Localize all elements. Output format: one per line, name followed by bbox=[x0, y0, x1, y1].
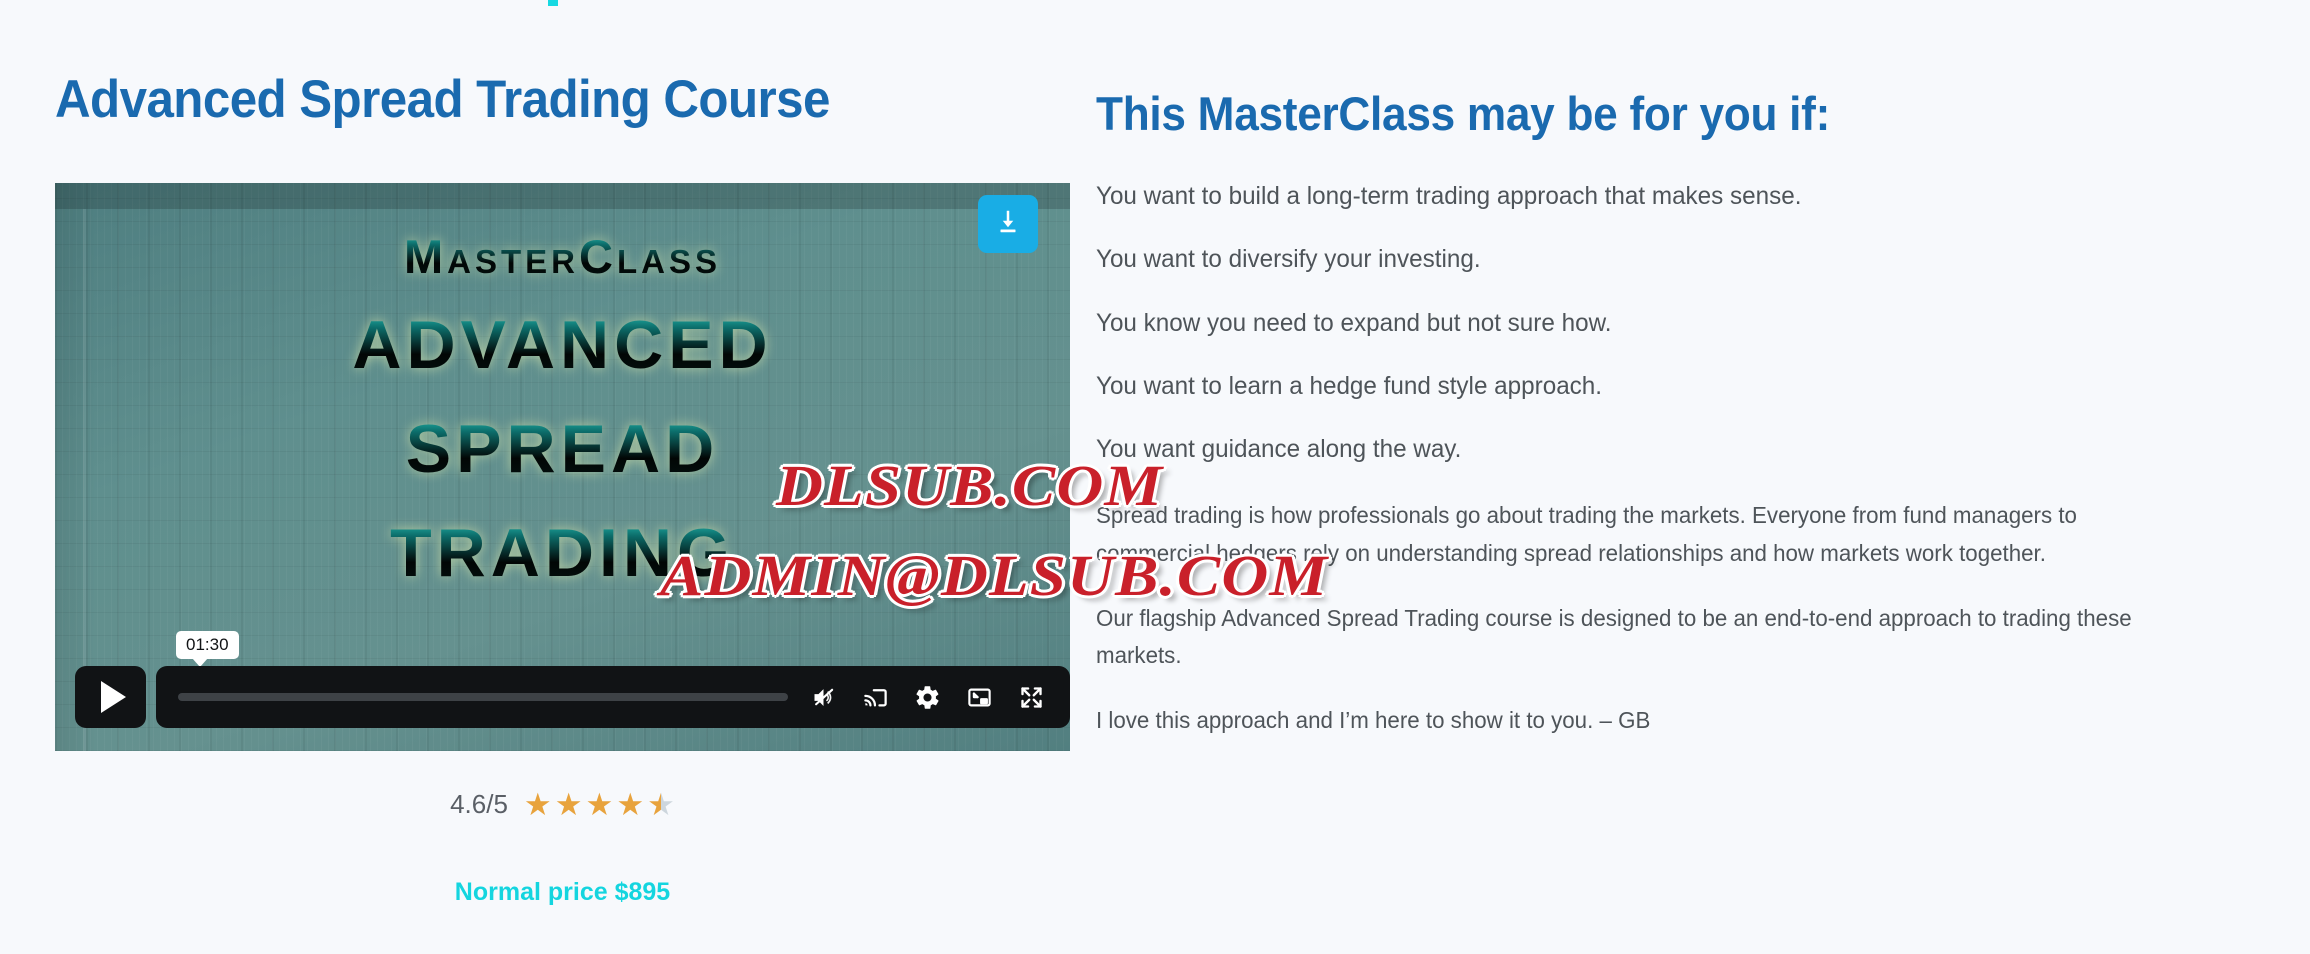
benefit-line: You want to learn a hedge fund style app… bbox=[1096, 371, 2250, 402]
download-button[interactable] bbox=[978, 195, 1038, 253]
fullscreen-icon[interactable] bbox=[1014, 680, 1048, 714]
thumbnail-line-1: MasterClass bbox=[404, 229, 721, 284]
benefit-line: You want to diversify your investing. bbox=[1096, 244, 2250, 275]
left-column: Advanced Spread Trading Course bbox=[55, 72, 1075, 128]
rating-value: 4.6/5 bbox=[450, 789, 508, 820]
price-row: Normal price $895 bbox=[55, 878, 1070, 907]
description-paragraph: Spread trading is how professionals go a… bbox=[1096, 497, 2182, 572]
signature-paragraph: I love this approach and I’m here to sho… bbox=[1096, 702, 2182, 739]
description-paragraph: Our flagship Advanced Spread Trading cou… bbox=[1096, 600, 2182, 675]
thumbnail-line-4: TRADING bbox=[390, 514, 735, 592]
cast-icon[interactable] bbox=[858, 680, 892, 714]
settings-gear-icon[interactable] bbox=[910, 680, 944, 714]
video-player[interactable]: MasterClass ADVANCED SPREAD TRADING 01:3… bbox=[55, 183, 1070, 751]
star-icon: ★ bbox=[616, 789, 644, 820]
volume-muted-icon[interactable] bbox=[806, 680, 840, 714]
page-title: Advanced Spread Trading Course bbox=[55, 72, 1004, 128]
video-control-bar bbox=[156, 666, 1070, 728]
star-icon: ★ bbox=[524, 789, 552, 820]
page-root: Advanced Spread Trading Course MasterCla… bbox=[0, 0, 2310, 954]
benefit-line: You know you need to expand but not sure… bbox=[1096, 308, 2250, 339]
play-button[interactable] bbox=[75, 666, 146, 728]
video-control-icons bbox=[806, 680, 1054, 714]
cut-off-text-sliver bbox=[548, 0, 558, 6]
normal-price-label: Normal price $895 bbox=[455, 878, 670, 906]
benefit-line: You want guidance along the way. bbox=[1096, 434, 2250, 465]
download-icon bbox=[993, 207, 1023, 242]
thumbnail-line-3: SPREAD bbox=[406, 410, 719, 488]
section-heading: This MasterClass may be for you if: bbox=[1096, 86, 2215, 141]
star-rating: ★ ★ ★ ★ ★ bbox=[524, 789, 675, 820]
video-duration-tooltip: 01:30 bbox=[176, 631, 239, 659]
star-icon: ★ bbox=[586, 789, 614, 820]
picture-in-picture-icon[interactable] bbox=[962, 680, 996, 714]
benefit-line: You want to build a long-term trading ap… bbox=[1096, 181, 2250, 212]
star-half-icon: ★ bbox=[647, 789, 675, 820]
right-column: This MasterClass may be for you if: You … bbox=[1096, 86, 2286, 768]
video-progress-bar[interactable] bbox=[178, 693, 788, 701]
play-icon bbox=[101, 681, 126, 713]
star-icon: ★ bbox=[555, 789, 583, 820]
rating-row: 4.6/5 ★ ★ ★ ★ ★ bbox=[55, 789, 1070, 820]
thumbnail-line-2: ADVANCED bbox=[352, 306, 772, 384]
